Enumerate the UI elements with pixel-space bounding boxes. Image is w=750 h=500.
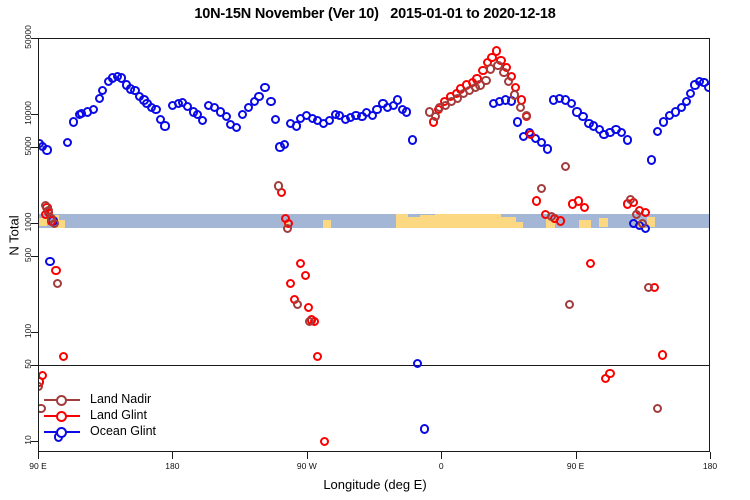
legend-marker: [56, 427, 67, 438]
legend: Land NadirLand GlintOcean Glint: [44, 392, 194, 440]
plot-frame: [38, 38, 710, 452]
x-tick-label: 180: [142, 461, 202, 471]
legend-item: Ocean Glint: [44, 424, 194, 440]
y-tick-label: 50000: [23, 23, 33, 51]
legend-label: Land Nadir: [90, 392, 151, 406]
y-tick-label: 10000: [23, 99, 33, 127]
x-tick-label: 0: [411, 461, 471, 471]
chart-title: 10N-15N November (Ver 10) 2015-01-01 to …: [0, 6, 750, 22]
x-tick-label: 90 E: [8, 461, 68, 471]
legend-marker: [56, 411, 67, 422]
x-tick: [172, 452, 173, 459]
legend-label: Ocean Glint: [90, 424, 156, 438]
y-tick-label: 500: [23, 241, 33, 269]
x-tick-label: 90 W: [277, 461, 337, 471]
x-tick: [307, 452, 308, 459]
x-tick: [710, 452, 711, 459]
x-tick-label: 90 E: [546, 461, 606, 471]
x-tick: [576, 452, 577, 459]
y-tick-label: 1000: [23, 208, 33, 236]
y-tick-label: 50: [23, 350, 33, 378]
x-tick: [38, 452, 39, 459]
y-tick-label: 100: [23, 317, 33, 345]
y-tick-label: 5000: [23, 132, 33, 160]
legend-item: Land Glint: [44, 408, 194, 424]
figure-root: 10N-15N November (Ver 10) 2015-01-01 to …: [0, 0, 750, 500]
legend-item: Land Nadir: [44, 392, 194, 408]
y-tick-label: 10: [23, 426, 33, 454]
x-tick-label: 180: [680, 461, 740, 471]
x-axis-title: Longitude (deg E): [0, 477, 750, 492]
x-tick: [441, 452, 442, 459]
y-axis-title: N Total: [7, 191, 22, 281]
legend-marker: [56, 395, 67, 406]
legend-label: Land Glint: [90, 408, 147, 422]
